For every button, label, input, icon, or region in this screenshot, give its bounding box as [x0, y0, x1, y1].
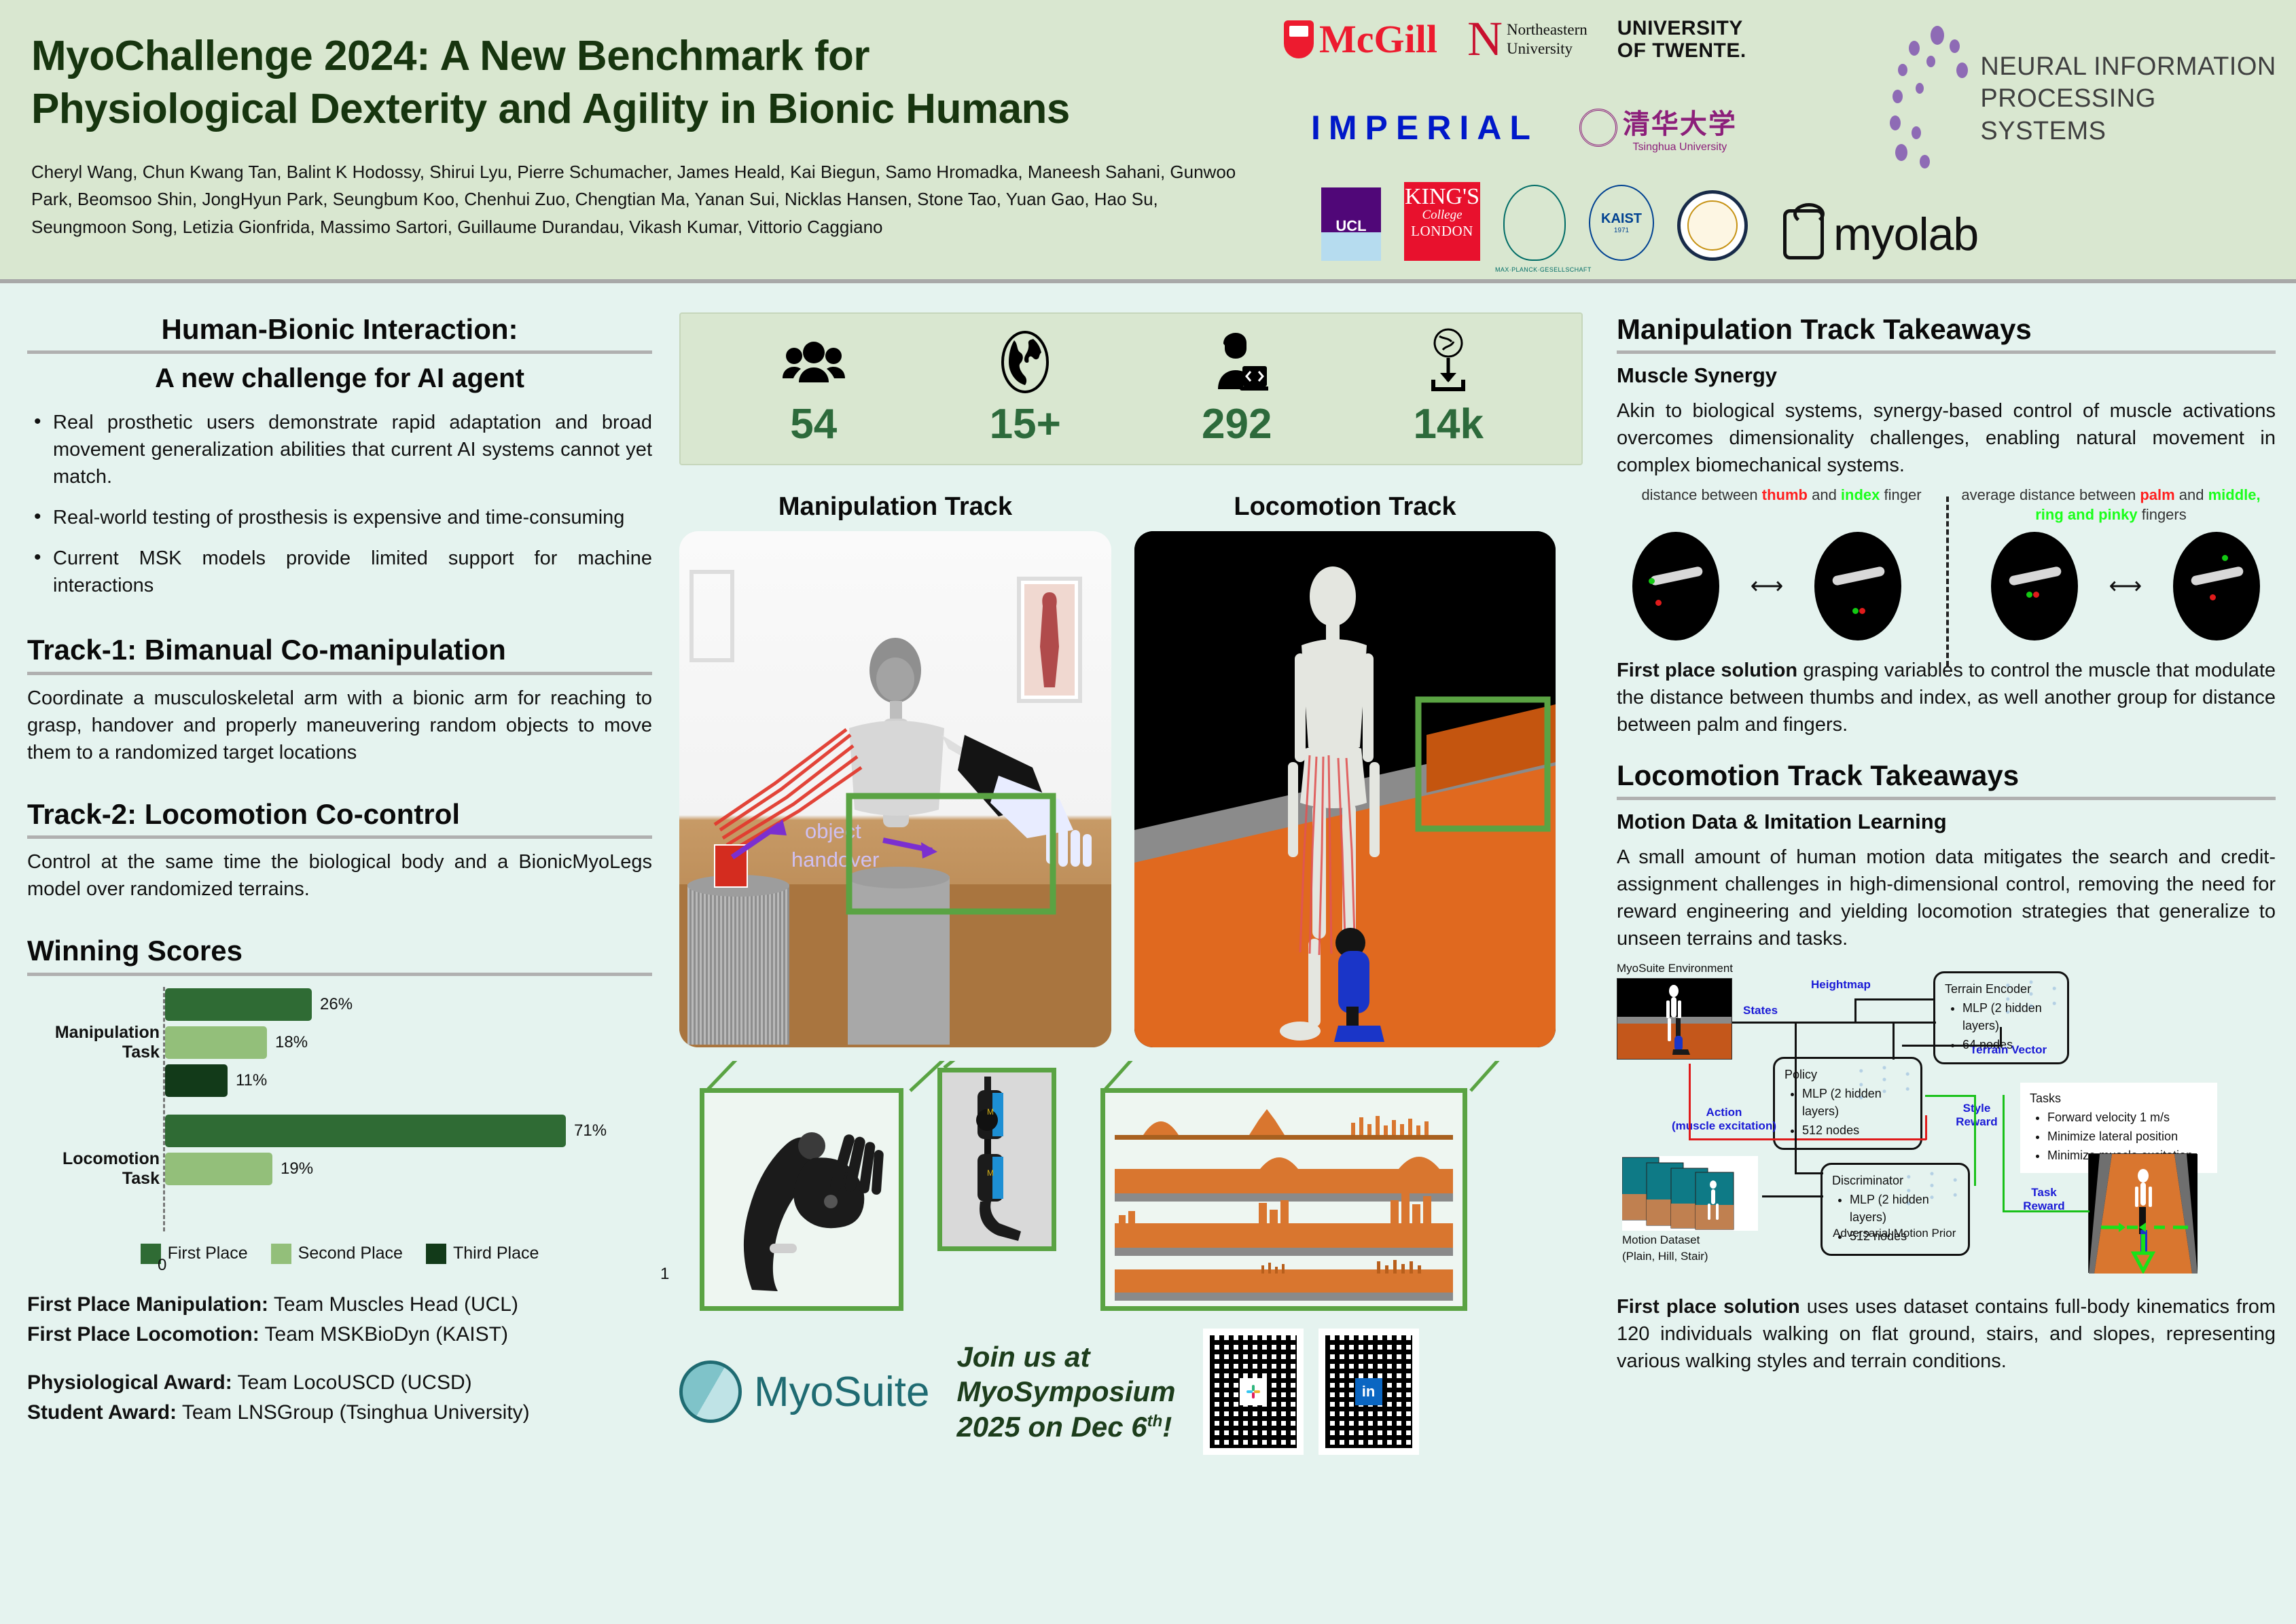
section-track2-title: Track-2: Locomotion Co-control [27, 797, 652, 839]
author-list: Cheryl Wang, Chun Kwang Tan, Balint K Ho… [31, 158, 1247, 240]
globe-icon [954, 329, 1096, 395]
arch-connector-style [1925, 1095, 1975, 1097]
qr-code-slack[interactable] [1203, 1329, 1304, 1455]
arch-connector [1762, 1195, 1823, 1197]
legend-item: Third Place [426, 1244, 539, 1264]
bar-row: 11% [165, 1063, 652, 1098]
kaist-wordmark: KAIST [1601, 211, 1642, 227]
download-icon [1377, 329, 1520, 395]
developer-icon [1166, 329, 1308, 395]
stat-downloads: 14k [1377, 329, 1520, 448]
section-winning-scores-title: Winning Scores [27, 934, 652, 975]
arch-env-image [1617, 978, 1732, 1060]
arch-label-dataset-l1: Motion Dataset [1622, 1233, 1700, 1247]
bar-label: 18% [275, 1033, 308, 1052]
action-line1: Action [1670, 1106, 1778, 1119]
header-text-block: MyoChallenge 2024: A New Benchmark for P… [31, 30, 1281, 240]
awards-group-special: Physiological Award: Team LocoUSCD (UCSD… [27, 1368, 652, 1428]
middle-column: 54 15+ [679, 312, 1583, 1455]
mcgill-shield-icon [1284, 20, 1314, 58]
northeastern-line2: University [1507, 39, 1588, 58]
neurips-line1: NEURAL INFORMATION [1980, 51, 2282, 84]
join-date: 2025 on Dec 6 [956, 1411, 1147, 1443]
stat-participants: 54 [742, 329, 885, 448]
list-item: Real prosthetic users demonstrate rapid … [27, 409, 652, 490]
locomotion-track-title: Locomotion Track [1134, 492, 1556, 522]
subsection-muscle-synergy: Muscle Synergy [1617, 363, 2276, 388]
arch-box-discriminator: Discriminator MLP (2 hidden layers) 512 … [1820, 1163, 1970, 1255]
tsinghua-chinese: 清华大学 [1623, 102, 1737, 141]
track2-body: Control at the same time the biological … [27, 848, 652, 903]
motion-data-body: A small amount of human motion data miti… [1617, 844, 2276, 952]
track-headings: Manipulation Track Locomotion Track [679, 492, 1583, 522]
arch-connector [1732, 1022, 1936, 1024]
kcl-london: LONDON [1404, 223, 1480, 240]
myosuite-logo[interactable]: MyoSuite [679, 1360, 929, 1423]
task-line1: Task [2015, 1186, 2073, 1199]
arch-connector-task [2003, 1095, 2005, 1212]
bar-row: Locomotion Task 19% [165, 1151, 652, 1187]
chart-category-label: Manipulation Task [32, 1023, 160, 1062]
stat-submissions: 292 [1166, 329, 1308, 448]
ucl-logo: UCL [1321, 187, 1381, 261]
inset-figures: 1 [679, 1061, 1583, 1312]
award-label: First Place Locomotion: [27, 1323, 259, 1346]
arch-task-image [2088, 1153, 2197, 1273]
ucsd-logo [1677, 190, 1748, 261]
chart-legend: First Place Second Place Third Place [27, 1244, 652, 1264]
arch-connector [1893, 1022, 1895, 1060]
first-place-bold: First place solution [1617, 1296, 1800, 1318]
hand-synergy-figure: distance between thumb and index finger … [1617, 486, 2276, 640]
myolab-wordmark: myolab [1833, 208, 1978, 261]
logo-strip: McGill N Northeastern University UNIVERS… [1284, 7, 2282, 278]
myolab-logo: myolab [1783, 208, 1978, 261]
arch-label-dataset-l2: (Plain, Hill, Stair) [1622, 1250, 1708, 1263]
award-value: Team LocoUSCD (UCSD) [238, 1371, 472, 1394]
bar-row: Manipulation Task 18% [165, 1025, 652, 1060]
page-title-line2: Physiological Dexterity and Agility in B… [31, 83, 1281, 136]
arch-connector-task [2003, 1210, 2089, 1212]
myolab-mark-icon [1783, 209, 1824, 259]
policy-item: 512 nodes [1802, 1121, 1911, 1139]
arch-connector-action [1689, 1064, 1691, 1140]
hand-palm-fingers-closed [1991, 532, 2078, 640]
caption-palm: palm [2140, 486, 2174, 503]
people-icon [742, 329, 885, 395]
section-locomotion-takeaways: Locomotion Track Takeaways [1617, 759, 2276, 800]
legend-label: First Place [168, 1244, 248, 1263]
arch-connector [1795, 1172, 1823, 1174]
arch-env-label: MyoSuite Environment [1617, 962, 1733, 975]
manipulation-track-image: object handover [679, 531, 1111, 1047]
join-line2: MyoSymposium [956, 1374, 1175, 1409]
section-track1-title: Track-1: Bimanual Co-manipulation [27, 633, 652, 674]
section-manipulation-takeaways: Manipulation Track Takeaways [1617, 312, 2276, 354]
awards-block: First Place Manipulation: Team Muscles H… [27, 1290, 652, 1428]
section-subtitle-ai-agent: A new challenge for AI agent [27, 363, 652, 394]
tasks-item: Forward velocity 1 m/s [2047, 1108, 2208, 1126]
award-row: First Place Manipulation: Team Muscles H… [27, 1290, 652, 1320]
arch-label-task-reward: Task Reward [2015, 1186, 2073, 1213]
award-value: Team LNSGroup (Tsinghua University) [182, 1401, 530, 1424]
locomotion-first-place-text: First place solution uses uses dataset c… [1617, 1293, 2276, 1375]
twente-line2: OF TWENTE. [1617, 39, 1746, 62]
stats-banner: 54 15+ [679, 312, 1583, 465]
award-value: Team MSKBioDyn (KAIST) [265, 1323, 508, 1346]
northeastern-n-icon: N [1467, 20, 1503, 59]
svg-text:M: M [987, 1168, 994, 1178]
section-human-bionic-interaction: Human-Bionic Interaction: [27, 312, 652, 354]
arch-connector [1902, 1045, 2003, 1047]
style-line1: Style [1950, 1102, 2004, 1115]
kaist-logo: KAIST 1971 [1589, 185, 1654, 261]
awards-group-first-place: First Place Manipulation: Team Muscles H… [27, 1290, 652, 1350]
hand-caption-right: average distance between palm and middle… [1946, 486, 2276, 524]
neurips-dots-icon [1888, 24, 1968, 174]
kcl-kings: KING'S [1404, 186, 1480, 208]
chart-category-label: Locomotion Task [32, 1149, 160, 1189]
action-line2: (muscle excitation) [1670, 1119, 1778, 1133]
northeastern-line1: Northeastern [1507, 20, 1588, 39]
legend-label: Second Place [298, 1244, 403, 1263]
svg-text:object: object [805, 819, 861, 843]
track1-body: Coordinate a musculoskeletal arm with a … [27, 685, 652, 766]
hand-thumb-index-open [1632, 532, 1719, 640]
middle-footer: MyoSuite Join us at MyoSymposium 2025 on… [679, 1329, 1583, 1455]
qr-pattern: in [1325, 1335, 1412, 1448]
legend-swatch-second [271, 1244, 291, 1264]
legend-item: First Place [141, 1244, 248, 1264]
bar-locomotion-second [165, 1153, 272, 1185]
double-arrow-icon: ⟷ [2109, 573, 2142, 600]
imperial-logo: IMPERIAL [1311, 108, 1539, 147]
bar-locomotion-first [165, 1115, 566, 1147]
award-value: Team Muscles Head (UCL) [274, 1293, 518, 1316]
bar-label: 19% [281, 1159, 313, 1178]
twente-line1: UNIVERSITY [1617, 17, 1746, 39]
bar-manipulation-third [165, 1064, 228, 1097]
ucsd-seal-icon [1687, 200, 1738, 251]
mcgill-logo: McGill [1284, 16, 1437, 62]
qr-pattern [1210, 1335, 1297, 1448]
vertical-divider [1946, 497, 1949, 666]
join-line3: 2025 on Dec 6th! [956, 1409, 1175, 1444]
stat-value: 292 [1166, 400, 1308, 448]
slack-icon [1240, 1378, 1267, 1405]
stat-value: 15+ [954, 400, 1096, 448]
svg-text:handover: handover [791, 848, 879, 871]
join-ordinal-suffix: th [1147, 1412, 1163, 1430]
list-item: Current MSK models provide limited suppo… [27, 545, 652, 599]
join-line1: Join us at [956, 1339, 1175, 1374]
arch-connector-style [1974, 1095, 1976, 1186]
muscle-synergy-body: Akin to biological systems, synergy-base… [1617, 397, 2276, 479]
manipulation-track-title: Manipulation Track [679, 492, 1111, 522]
kings-college-logo: KING'S College LONDON [1404, 182, 1480, 261]
bar-row: 26% [165, 987, 652, 1022]
bar-label: 11% [236, 1071, 267, 1090]
award-row: Student Award: Team LNSGroup (Tsinghua U… [27, 1398, 652, 1428]
caption-index: index [1841, 486, 1880, 503]
list-item: Real-world testing of prosthesis is expe… [27, 504, 652, 531]
track-panels: object handover [679, 531, 1583, 1047]
page-title: MyoChallenge 2024: A New Benchmark for P… [31, 30, 1281, 135]
chart-axis-origin: 0 [158, 1256, 166, 1275]
tasks-item: Minimize lateral position [2047, 1127, 2208, 1145]
tsinghua-seal-icon [1579, 109, 1617, 147]
arch-label-style-reward: Style Reward [1950, 1102, 2004, 1129]
arch-connector-action [1925, 1115, 1927, 1140]
myosuite-wordmark: MyoSuite [754, 1368, 929, 1416]
award-row: First Place Locomotion: Team MSKBioDyn (… [27, 1320, 652, 1350]
mpg-wordmark: MAX·PLANCK·GESELLSCHAFT [1495, 266, 1577, 273]
bionic-arm-inset [700, 1088, 903, 1311]
challenge-bullet-list: Real prosthetic users demonstrate rapid … [27, 409, 652, 599]
kcl-college: College [1404, 208, 1480, 223]
award-label: Student Award: [27, 1401, 177, 1424]
locomotion-track-image [1134, 531, 1556, 1047]
arch-label-states: States [1743, 1004, 1778, 1017]
tasks-title: Tasks [2030, 1089, 2208, 1107]
hand-thumb-index-closed [1814, 532, 1901, 640]
arch-connector [1854, 998, 1856, 1023]
neurips-line2: PROCESSING SYSTEMS [1980, 83, 2282, 147]
locomotion-architecture-diagram: MyoSuite Environment States Heightmap [1617, 962, 2276, 1281]
mcgill-wordmark: McGill [1319, 16, 1437, 62]
qr-codes: in [1203, 1329, 1419, 1455]
kaist-year: 1971 [1614, 227, 1629, 234]
legend-swatch-third [426, 1244, 446, 1264]
arch-motion-dataset-image [1622, 1156, 1758, 1231]
arch-connector-action [1689, 1138, 1926, 1140]
page-title-line1: MyoChallenge 2024: A New Benchmark for [31, 30, 1281, 83]
hand-palm-fingers-open [2173, 532, 2260, 640]
award-label: Physiological Award: [27, 1371, 232, 1394]
bar-row: 71% [165, 1113, 652, 1149]
arch-connector [2000, 1027, 2002, 1045]
tsinghua-english: Tsinghua University [1623, 141, 1737, 154]
right-column: Manipulation Track Takeaways Muscle Syne… [1617, 312, 2276, 1375]
bar-manipulation-second [165, 1026, 267, 1059]
neurips-wordmark: NEURAL INFORMATION PROCESSING SYSTEMS [1980, 51, 2282, 148]
arch-label-amp: Adversarial Motion Prior [1833, 1227, 1956, 1240]
chart-plot-area: 26% Manipulation Task 18% 11% 71% Locomo… [163, 987, 652, 1231]
legend-label: Third Place [453, 1244, 539, 1263]
join-us-callout: Join us at MyoSymposium 2025 on Dec 6th! [956, 1339, 1175, 1444]
bar-label: 71% [574, 1121, 607, 1140]
stat-value: 54 [742, 400, 885, 448]
bar-manipulation-first [165, 988, 312, 1021]
legend-item: Second Place [271, 1244, 403, 1264]
first-place-bold: First place solution [1617, 660, 1797, 681]
manipulation-first-place-text: First place solution grasping variables … [1617, 657, 2276, 738]
svg-text:M: M [987, 1107, 994, 1117]
award-label: First Place Manipulation: [27, 1293, 268, 1316]
twente-logo: UNIVERSITY OF TWENTE. [1617, 17, 1746, 62]
caption-thumb: thumb [1762, 486, 1808, 503]
northeastern-logo: N Northeastern University [1467, 20, 1588, 59]
arch-label-heightmap: Heightmap [1811, 978, 1871, 992]
style-line2: Reward [1950, 1115, 2004, 1129]
terrain-variants-inset [1100, 1088, 1467, 1311]
ucl-wordmark: UCL [1321, 217, 1381, 235]
left-column: Human-Bionic Interaction: A new challeng… [27, 312, 652, 1447]
tsinghua-logo: 清华大学 Tsinghua University [1579, 102, 1737, 154]
max-planck-logo: MAX·PLANCK·GESELLSCHAFT [1503, 185, 1566, 261]
hand-images: ⟷ ⟷ [1617, 532, 2276, 640]
arch-connector [1854, 998, 1935, 1000]
award-row: Physiological Award: Team LocoUSCD (UCSD… [27, 1368, 652, 1398]
myosuite-mark-icon [679, 1360, 742, 1423]
arch-connector [1795, 1022, 1797, 1172]
bionic-leg-inset: M M [937, 1068, 1056, 1251]
subsection-motion-data: Motion Data & Imitation Learning [1617, 810, 2276, 834]
join-exclaim: ! [1162, 1411, 1172, 1443]
double-arrow-icon: ⟷ [1751, 573, 1784, 600]
arch-label-action: Action (muscle excitation) [1670, 1106, 1778, 1133]
stat-countries: 15+ [954, 329, 1096, 448]
stat-value: 14k [1377, 400, 1520, 448]
bar-label: 26% [320, 995, 353, 1014]
qr-code-linkedin[interactable]: in [1319, 1329, 1419, 1455]
winning-scores-chart: 26% Manipulation Task 18% 11% 71% Locomo… [27, 987, 652, 1272]
linkedin-icon: in [1355, 1378, 1382, 1405]
figure-number: 1 [660, 1265, 669, 1284]
poster-header: MyoChallenge 2024: A New Benchmark for P… [0, 0, 2296, 283]
hand-caption-left: distance between thumb and index finger [1617, 486, 1946, 524]
